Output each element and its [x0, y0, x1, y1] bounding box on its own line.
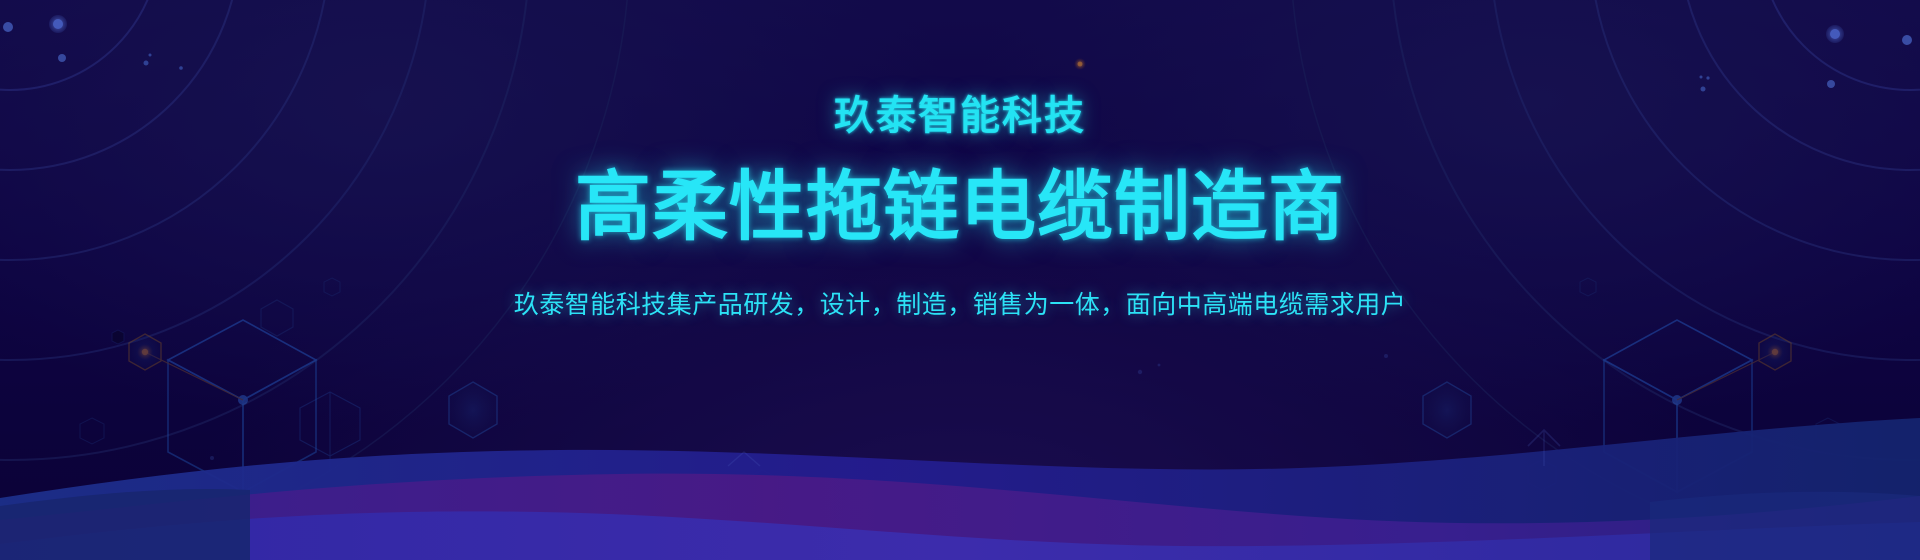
page-title: 高柔性拖链电缆制造商	[575, 170, 1345, 246]
brand-eyebrow: 玖泰智能科技	[834, 96, 1086, 136]
hero-banner: 玖泰智能科技 高柔性拖链电缆制造商 玖泰智能科技集产品研发，设计，制造，销售为一…	[0, 0, 1920, 560]
hero-subtitle: 玖泰智能科技集产品研发，设计，制造，销售为一体，面向中高端电缆需求用户	[514, 290, 1407, 320]
hero-content: 玖泰智能科技 高柔性拖链电缆制造商 玖泰智能科技集产品研发，设计，制造，销售为一…	[0, 0, 1920, 560]
